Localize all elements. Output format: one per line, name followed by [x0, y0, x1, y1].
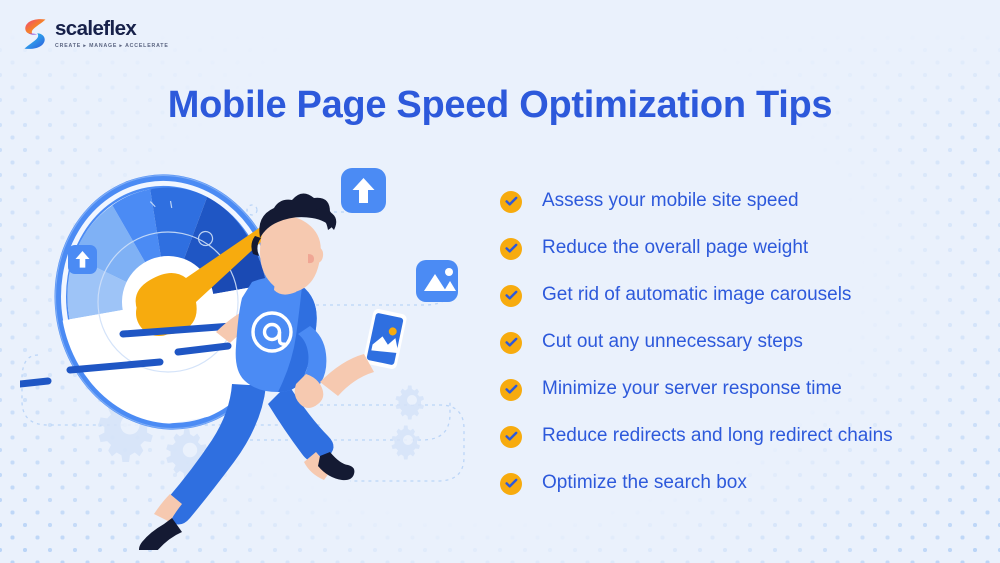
upload-badge-icon-large [341, 168, 386, 213]
check-icon [500, 238, 522, 260]
list-item[interactable]: Assess your mobile site speed [500, 178, 980, 225]
list-item-label: Assess your mobile site speed [542, 190, 799, 213]
list-item[interactable]: Optimize the search box [500, 460, 980, 507]
upload-badge-icon-small [68, 245, 97, 274]
list-item[interactable]: Get rid of automatic image carousels [500, 272, 980, 319]
list-item[interactable]: Reduce redirects and long redirect chain… [500, 413, 980, 460]
check-icon [500, 332, 522, 354]
check-icon [500, 191, 522, 213]
list-item[interactable]: Cut out any unnecessary steps [500, 319, 980, 366]
tips-checklist: Assess your mobile site speed Reduce the… [500, 178, 980, 507]
check-icon [500, 473, 522, 495]
image-badge-icon [416, 260, 458, 302]
list-item[interactable]: Minimize your server response time [500, 366, 980, 413]
list-item-label: Get rid of automatic image carousels [542, 284, 851, 307]
list-item[interactable]: Reduce the overall page weight [500, 225, 980, 272]
check-icon [500, 426, 522, 448]
check-icon [500, 379, 522, 401]
brand-tagline: CREATE ▸ MANAGE ▸ ACCELERATE [55, 43, 169, 49]
list-item-label: Optimize the search box [542, 472, 747, 495]
scaleflex-s-mark-icon [22, 18, 48, 50]
list-item-label: Reduce redirects and long redirect chain… [542, 425, 893, 448]
list-item-label: Cut out any unnecessary steps [542, 331, 803, 354]
smartphone-icon [363, 308, 408, 370]
check-icon [500, 285, 522, 307]
speedometer-runner-illustration [20, 150, 490, 550]
brand-name: scaleflex [55, 19, 169, 40]
list-item-label: Reduce the overall page weight [542, 237, 808, 260]
list-item-label: Minimize your server response time [542, 378, 842, 401]
page-title: Mobile Page Speed Optimization Tips [0, 84, 1000, 127]
brand-logo[interactable]: scaleflex CREATE ▸ MANAGE ▸ ACCELERATE [22, 18, 169, 50]
